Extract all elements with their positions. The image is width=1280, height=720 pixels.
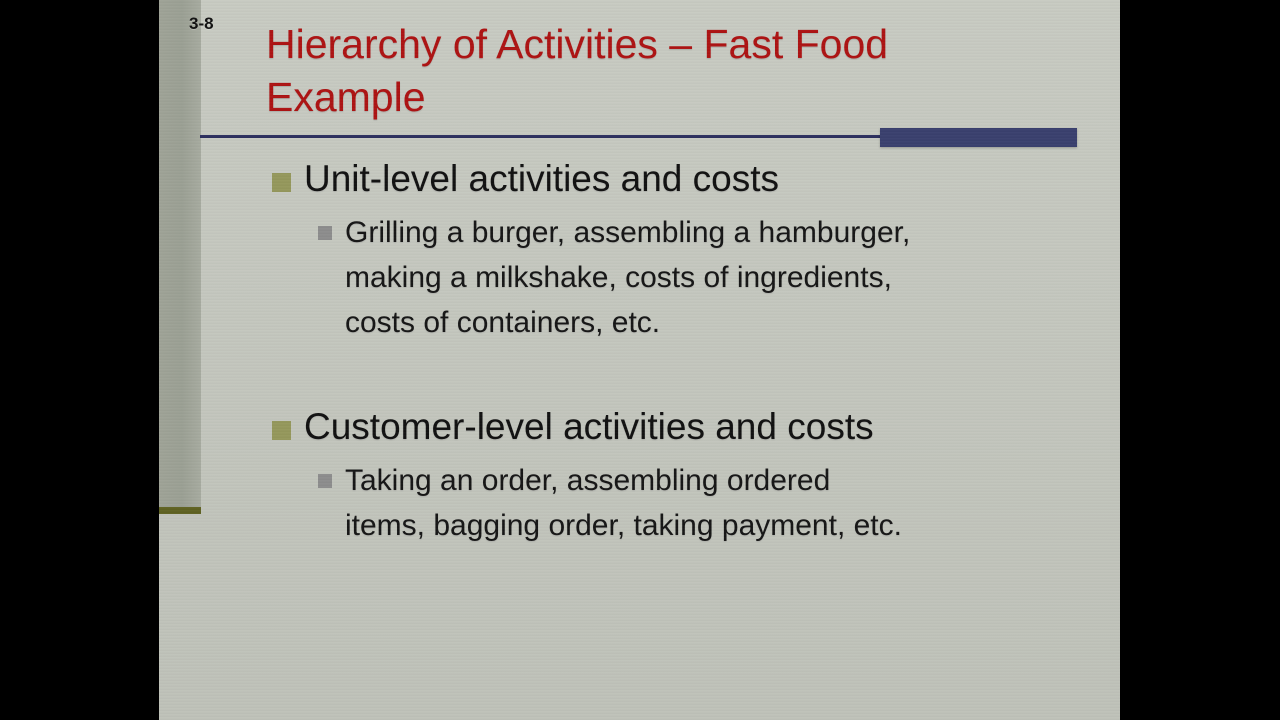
bullet-level2-line: costs of containers, etc. bbox=[345, 300, 1090, 345]
square-bullet-icon bbox=[272, 421, 291, 440]
slide-title: Hierarchy of Activities – Fast Food Exam… bbox=[266, 18, 1056, 124]
bullet-group-unit-level: Unit-level activities and costs Grilling… bbox=[159, 155, 1120, 345]
letterbox-left bbox=[0, 0, 159, 720]
bullet-level1-label: Unit-level activities and costs bbox=[304, 158, 779, 199]
bullet-level1-unit-level: Unit-level activities and costs bbox=[159, 155, 1120, 203]
slide-canvas: 3-8 Hierarchy of Activities – Fast Food … bbox=[159, 0, 1120, 720]
small-square-bullet-icon bbox=[318, 226, 332, 240]
square-bullet-icon bbox=[272, 173, 291, 192]
title-accent-block bbox=[880, 128, 1077, 147]
bullet-level1-label: Customer-level activities and costs bbox=[304, 406, 874, 447]
bullet-level2-line: items, bagging order, taking payment, et… bbox=[345, 503, 1090, 548]
bullet-level2-unit-level: Grilling a burger, assembling a hamburge… bbox=[159, 210, 1090, 345]
slide-body: Unit-level activities and costs Grilling… bbox=[159, 155, 1120, 548]
bullet-level2-line: making a milkshake, costs of ingredients… bbox=[345, 255, 1090, 300]
bullet-level2-line: Grilling a burger, assembling a hamburge… bbox=[345, 210, 1090, 255]
bullet-group-customer-level: Customer-level activities and costs Taki… bbox=[159, 403, 1120, 548]
small-square-bullet-icon bbox=[318, 474, 332, 488]
presentation-viewport: 3-8 Hierarchy of Activities – Fast Food … bbox=[0, 0, 1280, 720]
bullet-level2-customer-level: Taking an order, assembling ordered item… bbox=[159, 458, 1090, 548]
letterbox-right bbox=[1120, 0, 1280, 720]
slide-number: 3-8 bbox=[189, 14, 214, 34]
bullet-level1-customer-level: Customer-level activities and costs bbox=[159, 403, 1120, 451]
bullet-level2-line: Taking an order, assembling ordered bbox=[345, 458, 1090, 503]
